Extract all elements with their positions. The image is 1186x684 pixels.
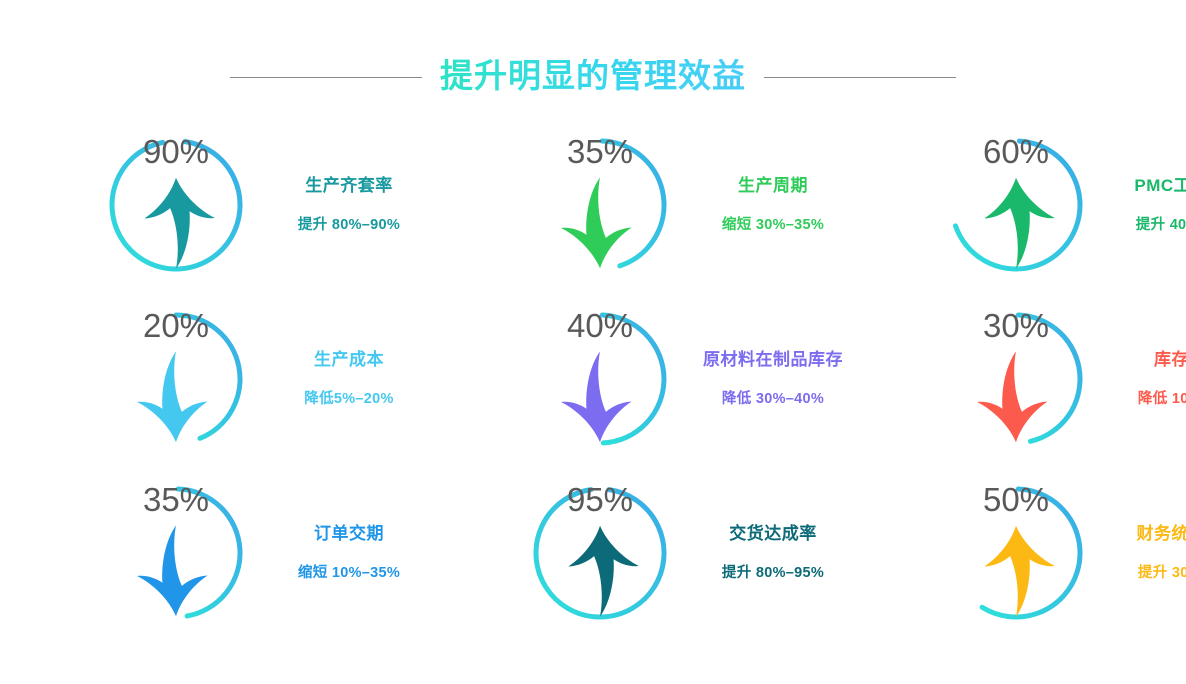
metric-name: 原材料在制品库存 — [703, 351, 843, 368]
gauge-center: 35% — [106, 483, 246, 623]
gauge-value: 95% — [567, 483, 633, 516]
metric-card-inner: 35%订单交期缩短 10%–35% — [106, 483, 434, 623]
metric-card-inner: 50%财务统计效率提升 30%–50% — [946, 483, 1186, 623]
arrow-up-icon — [106, 171, 246, 275]
metric-card-inner: 90%生产齐套率提升 80%–90% — [106, 135, 434, 275]
arrow-up-icon — [530, 519, 670, 623]
metric-detail: 提升 80%–95% — [722, 566, 824, 581]
title-rule-right — [764, 77, 956, 78]
gauge-ring: 60% — [946, 135, 1086, 275]
metric-detail: 降低 30%–40% — [722, 392, 824, 407]
metric-labels: 原材料在制品库存降低 30%–40% — [688, 351, 858, 407]
metric-labels: 交货达成率提升 80%–95% — [688, 525, 858, 581]
metric-detail: 降低5%–20% — [304, 392, 393, 407]
metric-card-inner: 35%生产周期缩短 30%–35% — [530, 135, 858, 275]
metric-labels: 订单交期缩短 10%–35% — [264, 525, 434, 581]
metric-card-inner: 60%PMC工作效率提升 40%–60 % — [946, 135, 1186, 275]
gauge-ring: 30% — [946, 309, 1086, 449]
metric-detail: 缩短 30%–35% — [722, 218, 824, 233]
metric-card-inner: 20%生产成本降低5%–20% — [106, 309, 434, 449]
metric-detail: 缩短 10%–35% — [298, 566, 400, 581]
metric-labels: 生产齐套率提升 80%–90% — [264, 177, 434, 233]
metric-labels: 生产成本降低5%–20% — [264, 351, 434, 407]
gauge-center: 95% — [530, 483, 670, 623]
gauge-ring: 20% — [106, 309, 246, 449]
gauge-center: 60% — [946, 135, 1086, 275]
gauge-value: 50% — [983, 483, 1049, 516]
arrow-down-icon — [106, 345, 246, 449]
metric-detail: 提升 80%–90% — [298, 218, 400, 233]
metric-card: 35%生产周期缩短 30%–35% — [434, 118, 858, 292]
page-header: 提升明显的管理效益 — [0, 52, 1186, 102]
arrow-down-icon — [530, 345, 670, 449]
metric-labels: PMC工作效率提升 40%–60 % — [1104, 177, 1186, 233]
gauge-value: 20% — [143, 309, 209, 342]
metric-name: 交货达成率 — [729, 525, 817, 542]
metric-card: 35%订单交期缩短 10%–35% — [0, 466, 434, 640]
metric-card-inner: 40%原材料在制品库存降低 30%–40% — [530, 309, 858, 449]
gauge-value: 35% — [143, 483, 209, 516]
gauge-center: 50% — [946, 483, 1086, 623]
gauge-value: 35% — [567, 135, 633, 168]
gauge-value: 60% — [983, 135, 1049, 168]
gauge-value: 30% — [983, 309, 1049, 342]
gauge-center: 40% — [530, 309, 670, 449]
metric-card: 40%原材料在制品库存降低 30%–40% — [434, 292, 858, 466]
gauge-center: 30% — [946, 309, 1086, 449]
metric-name: 生产周期 — [738, 177, 808, 194]
metric-detail: 提升 40%–60 % — [1136, 218, 1186, 233]
arrow-down-icon — [946, 345, 1086, 449]
metric-card: 95%交货达成率提升 80%–95% — [434, 466, 858, 640]
metric-labels: 财务统计效率提升 30%–50% — [1104, 525, 1186, 581]
arrow-down-icon — [530, 171, 670, 275]
metrics-grid: 90%生产齐套率提升 80%–90%35%生产周期缩短 30%–35%60%PM… — [0, 118, 1186, 640]
metric-name: 订单交期 — [314, 525, 384, 542]
metric-card-inner: 95%交货达成率提升 80%–95% — [530, 483, 858, 623]
arrow-up-icon — [946, 519, 1086, 623]
gauge-ring: 95% — [530, 483, 670, 623]
gauge-ring: 50% — [946, 483, 1086, 623]
metric-card: 20%生产成本降低5%–20% — [0, 292, 434, 466]
metric-detail: 提升 30%–50% — [1138, 566, 1186, 581]
arrow-down-icon — [106, 519, 246, 623]
metric-name: PMC工作效率 — [1134, 177, 1186, 194]
title-rule-left — [230, 77, 422, 78]
page-title: 提升明显的管理效益 — [440, 59, 746, 96]
metric-name: 生产齐套率 — [305, 177, 393, 194]
gauge-ring: 40% — [530, 309, 670, 449]
metric-labels: 库存资金降低 10%–30% — [1104, 351, 1186, 407]
gauge-center: 90% — [106, 135, 246, 275]
gauge-ring: 90% — [106, 135, 246, 275]
arrow-up-icon — [946, 171, 1086, 275]
metric-detail: 降低 10%–30% — [1138, 392, 1186, 407]
metric-card-inner: 30%库存资金降低 10%–30% — [946, 309, 1186, 449]
metric-name: 生产成本 — [314, 351, 384, 368]
metric-card: 50%财务统计效率提升 30%–50% — [858, 466, 1186, 640]
gauge-value: 40% — [567, 309, 633, 342]
metric-name: 库存资金 — [1154, 351, 1186, 368]
gauge-ring: 35% — [106, 483, 246, 623]
metric-name: 财务统计效率 — [1137, 525, 1186, 542]
metric-card: 30%库存资金降低 10%–30% — [858, 292, 1186, 466]
gauge-value: 90% — [143, 135, 209, 168]
gauge-center: 35% — [530, 135, 670, 275]
gauge-ring: 35% — [530, 135, 670, 275]
metric-labels: 生产周期缩短 30%–35% — [688, 177, 858, 233]
metric-card: 60%PMC工作效率提升 40%–60 % — [858, 118, 1186, 292]
metric-card: 90%生产齐套率提升 80%–90% — [0, 118, 434, 292]
gauge-center: 20% — [106, 309, 246, 449]
